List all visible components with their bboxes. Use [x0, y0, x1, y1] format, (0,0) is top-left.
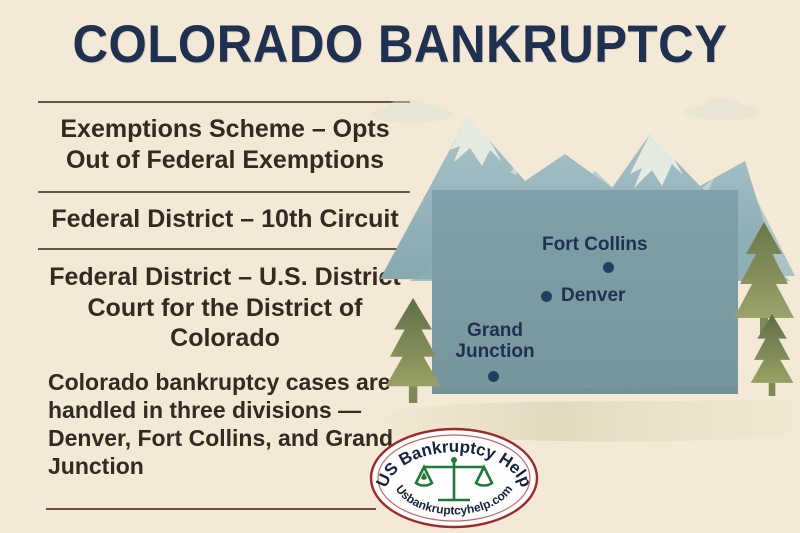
cloud-icon-right: [684, 98, 760, 120]
city-label-grand-junction: Grand Junction: [447, 320, 543, 363]
page-title: COLORADO BANKRUPTCY: [28, 14, 772, 75]
colorado-map-illustration: [350, 76, 800, 476]
city-dot-denver: [541, 291, 552, 302]
city-label-fort-collins: Fort Collins: [542, 234, 648, 255]
city-label-denver: Denver: [561, 285, 625, 306]
divider-bottom: [46, 508, 376, 510]
cloud-icon-left: [372, 99, 452, 123]
city-dot-grand-junction: [488, 371, 499, 382]
city-dot-fort-collins: [603, 262, 614, 273]
pine-tree-icon-right-small: [751, 314, 794, 396]
logo-badge[interactable]: US Bankruptcy Help Usbankruptcyhelp.com: [368, 426, 540, 530]
infographic-canvas: COLORADO BANKRUPTCY Exemptions Scheme – …: [0, 0, 800, 533]
